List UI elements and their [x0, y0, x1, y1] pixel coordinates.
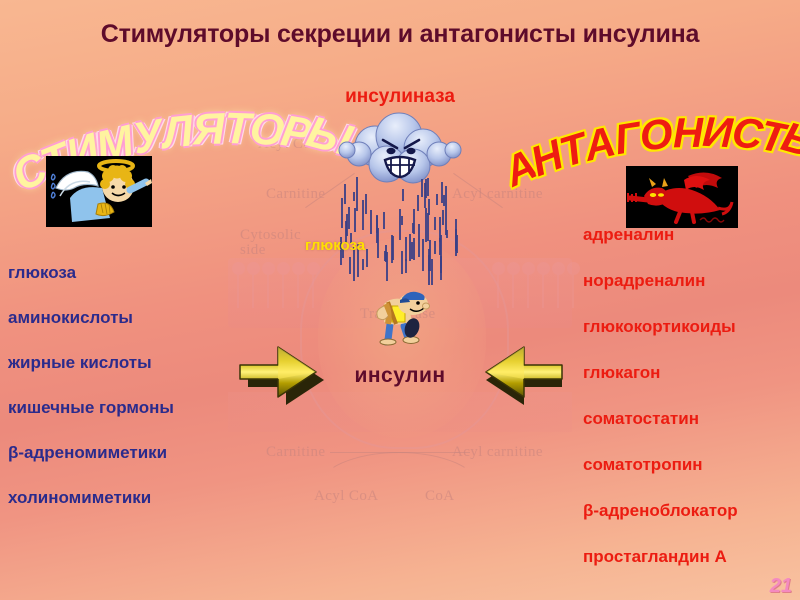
list-item: глюкоза	[8, 263, 278, 283]
enzyme-label-insulinaza: инсулиназа	[0, 86, 800, 108]
slide-canvas: Acyl CoA Cytosolic side Carnitine Acyl c…	[0, 0, 800, 600]
list-item: аминокислоты	[8, 308, 278, 328]
list-item: β-адреномиметики	[8, 443, 278, 463]
arrow-left-gold-icon	[478, 341, 566, 407]
list-item: холиномиметики	[8, 488, 278, 508]
list-item: глюкагон	[583, 363, 800, 383]
watermark-arrow-curve	[318, 452, 480, 524]
list-item: адреналин	[583, 225, 800, 245]
list-item: кишечные гормоны	[8, 398, 278, 418]
list-item: β-адреноблокатор	[583, 501, 800, 521]
slide-number: 21	[770, 575, 792, 598]
page-title: Стимуляторы секреции и антагонисты инсул…	[0, 20, 800, 49]
stimulators-list: глюкоза аминокислоты жирные кислоты кише…	[8, 263, 278, 533]
list-item: жирные кислоты	[8, 353, 278, 373]
angel-clipart	[46, 156, 152, 227]
watermark-label-cytosolic-side: Cytosolic side	[240, 228, 300, 258]
rain-streaks	[340, 175, 460, 285]
antagonists-list: адреналин норадреналин глюкокортикоиды г…	[583, 225, 800, 593]
watermark-lipid-heads-right	[492, 262, 580, 275]
list-item: норадреналин	[583, 271, 800, 291]
cartoon-worker-icon	[366, 282, 434, 348]
list-item: глюкокортикоиды	[583, 317, 800, 337]
list-item: соматостатин	[583, 409, 800, 429]
list-item: простагландин А	[583, 547, 800, 567]
glucose-label: глюкоза	[305, 237, 365, 254]
list-item: соматотропин	[583, 455, 800, 475]
devil-clipart	[626, 166, 738, 228]
